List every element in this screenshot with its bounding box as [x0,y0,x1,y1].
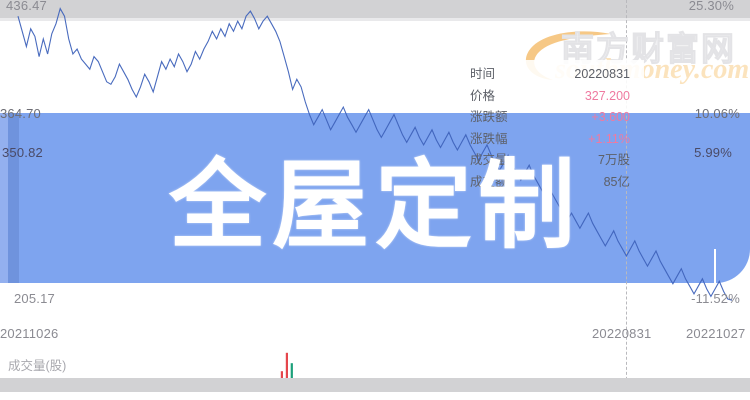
y-axis-label-right-0: 25.30% [689,0,734,13]
volume-grey-strip [0,378,750,392]
y-axis-label-left-0: 436.47 [6,0,47,13]
tooltip-row: 涨跌幅+1.11% [470,129,630,151]
tooltip-row-value: +3.600 [591,107,630,129]
tooltip-row: 涨跌额+3.600 [470,107,630,129]
y-axis-label-right-1: 10.06% [695,106,740,121]
x-axis-label-end: 20221027 [686,326,745,341]
tooltip-row: 价格327.200 [470,86,630,108]
tooltip-row-key: 涨跌幅 [470,129,508,151]
y-axis-label-left-3: 205.17 [14,291,55,306]
tooltip-row-key: 价格 [470,86,495,108]
x-axis-label-mid: 20220831 [592,326,651,341]
tooltip-row: 时间20220831 [470,64,630,86]
top-grey-strip [0,0,750,18]
y-axis-label-left-1: 364.70 [0,106,41,121]
tooltip-row-key: 涨跌额 [470,107,508,129]
page-title: 全屋定制 [0,152,750,260]
stock-chart-screenshot: #4a6fc4" stroke-width="1.2"/> 436.47 364… [0,0,750,400]
x-axis-label-start: 20211026 [0,326,58,341]
tooltip-row-value: 327.200 [585,86,630,108]
bottom-white-strip [0,392,750,400]
tooltip-row-value: 20220831 [574,64,630,86]
volume-axis-label: 成交量(股) [8,355,66,374]
tooltip-row-key: 时间 [470,64,495,86]
tooltip-row-value: +1.11% [588,129,630,151]
y-axis-label-right-3: -11.52% [691,291,740,306]
